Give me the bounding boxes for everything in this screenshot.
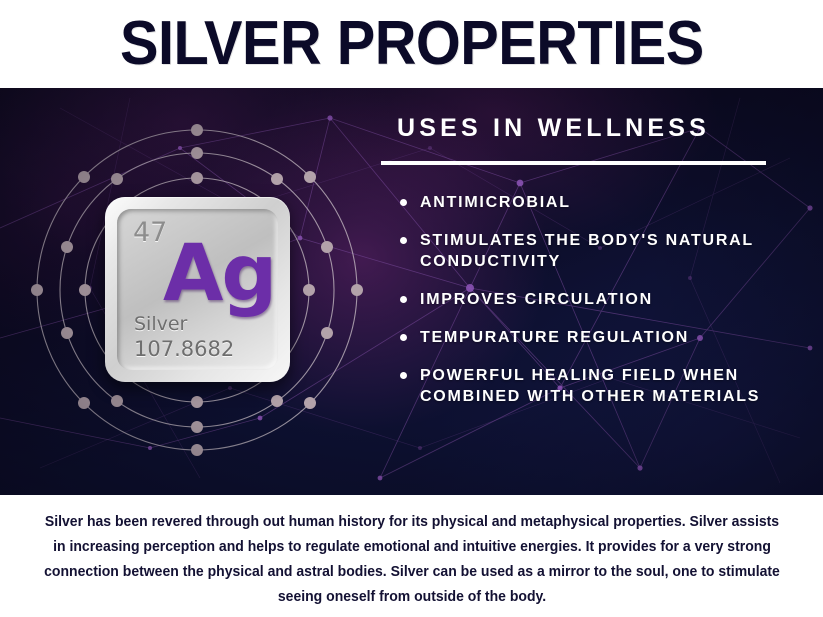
element-tile: 47 Ag Silver 107.8682 (105, 197, 290, 382)
list-item: TEMPURATURE REGULATION (381, 327, 801, 348)
wellness-divider (381, 161, 766, 165)
page-title: SILVER PROPERTIES (120, 13, 704, 75)
footer-band: Silver has been revered through out huma… (0, 495, 823, 617)
wellness-section: USES IN WELLNESS ANTIMICROBIAL STIMULATE… (381, 114, 801, 424)
element-tile-frame: 47 Ag Silver 107.8682 (105, 197, 290, 382)
element-symbol: Ag (163, 235, 275, 313)
list-item: IMPROVES CIRCULATION (381, 289, 801, 310)
list-item: STIMULATES THE BODY'S NATURAL CONDUCTIVI… (381, 230, 801, 272)
wellness-bullet-list: ANTIMICROBIAL STIMULATES THE BODY'S NATU… (381, 192, 801, 407)
main-dark-panel: 47 Ag Silver 107.8682 USES IN WELLNESS A… (0, 88, 823, 495)
element-tile-face: 47 Ag Silver 107.8682 (117, 209, 278, 370)
element-name: Silver (134, 313, 187, 335)
silver-properties-infographic: SILVER PROPERTIES (0, 0, 823, 617)
header-band: SILVER PROPERTIES (0, 0, 823, 88)
list-item: POWERFUL HEALING FIELD WHEN COMBINED WIT… (381, 365, 801, 407)
atomic-mass: 107.8682 (134, 337, 234, 361)
footer-paragraph: Silver has been revered through out huma… (41, 510, 782, 610)
list-item: ANTIMICROBIAL (381, 192, 801, 213)
wellness-heading: USES IN WELLNESS (397, 114, 801, 143)
